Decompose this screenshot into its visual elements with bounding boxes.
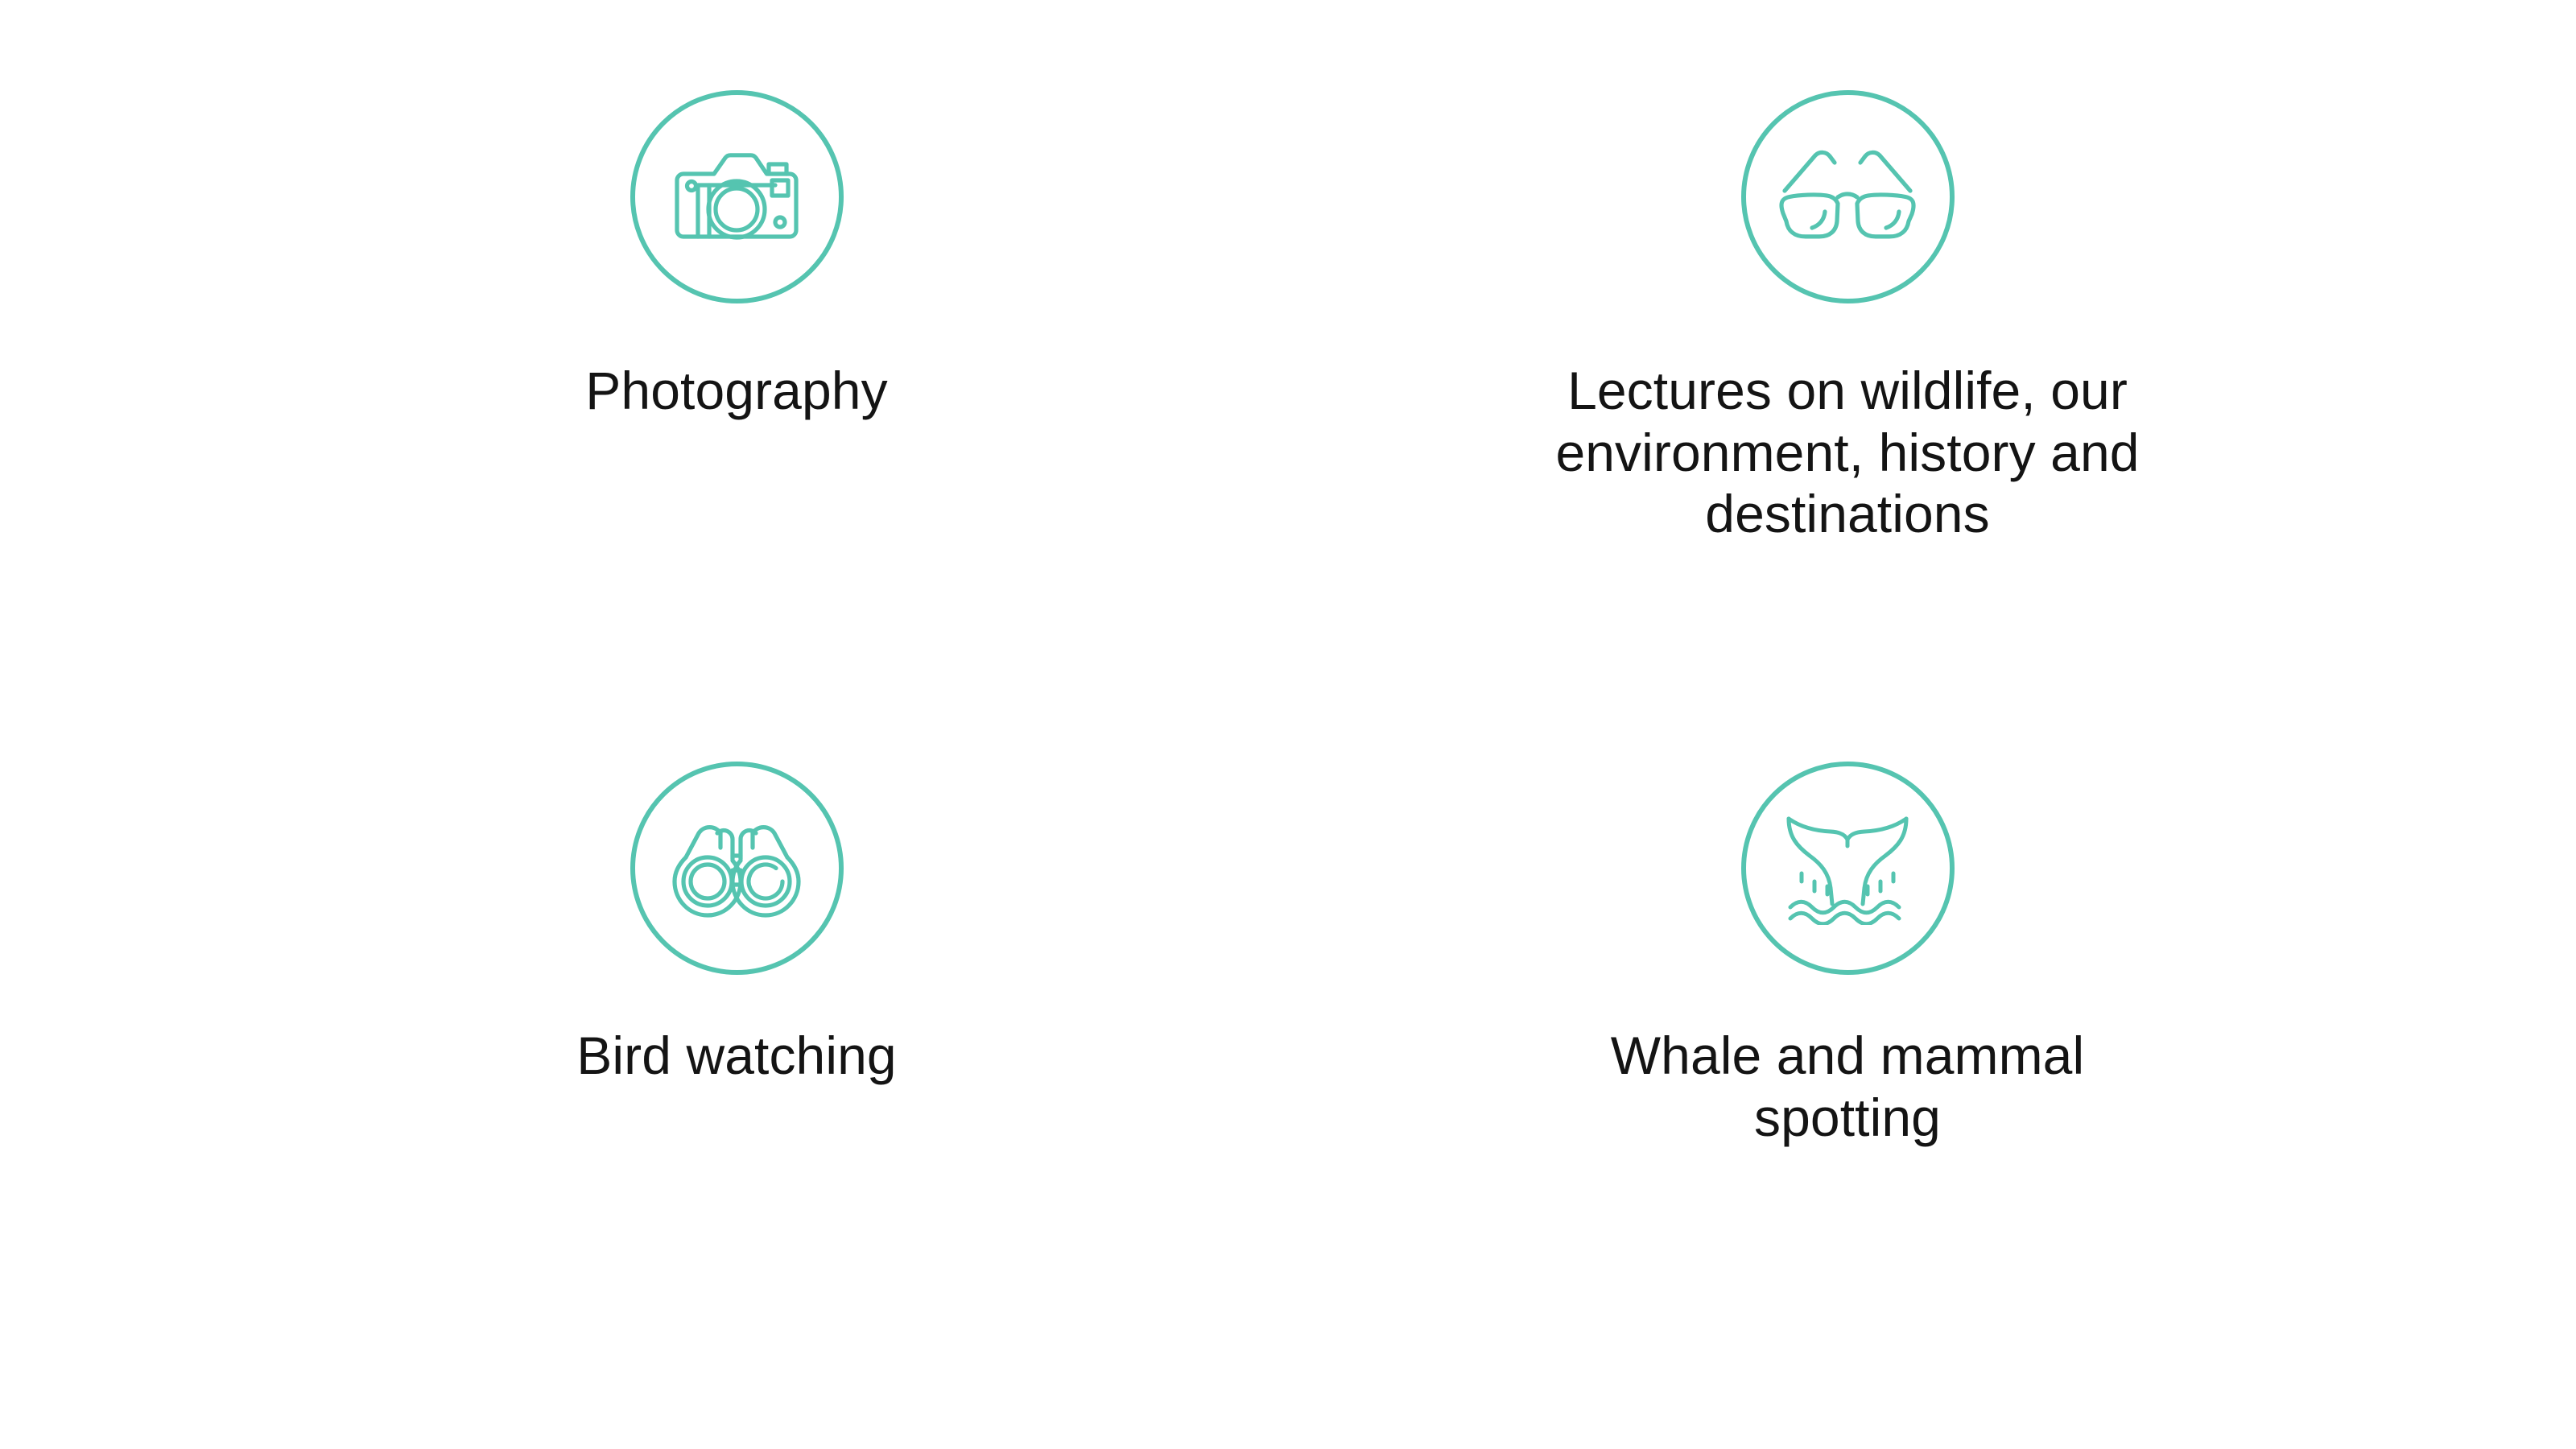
feature-label-bird-watching: Bird watching: [576, 1025, 897, 1087]
feature-label-lectures: Lectures on wildlife, our environment, h…: [1542, 360, 2153, 545]
sunglasses-face-icon-badge: [1741, 90, 1955, 303]
sunglasses-face-icon: [1778, 144, 1917, 250]
whale-tail-icon-badge: [1741, 762, 1955, 975]
feature-item-bird-watching[interactable]: Bird watching: [0, 762, 1288, 1433]
feature-item-lectures[interactable]: Lectures on wildlife, our environment, h…: [1288, 90, 2576, 762]
feature-item-photography[interactable]: Photography: [0, 90, 1288, 762]
feature-board: Photography: [0, 0, 2576, 1449]
feature-grid: Photography: [0, 0, 2576, 1449]
binoculars-icon-badge: [630, 762, 844, 975]
camera-icon: [672, 145, 801, 250]
camera-icon-badge: [630, 90, 844, 303]
whale-tail-icon: [1779, 812, 1916, 925]
feature-label-photography: Photography: [585, 360, 887, 422]
feature-item-whale-spotting[interactable]: Whale and mammal spotting: [1288, 762, 2576, 1433]
binoculars-icon: [670, 817, 803, 920]
feature-label-whale-spotting: Whale and mammal spotting: [1542, 1025, 2153, 1148]
